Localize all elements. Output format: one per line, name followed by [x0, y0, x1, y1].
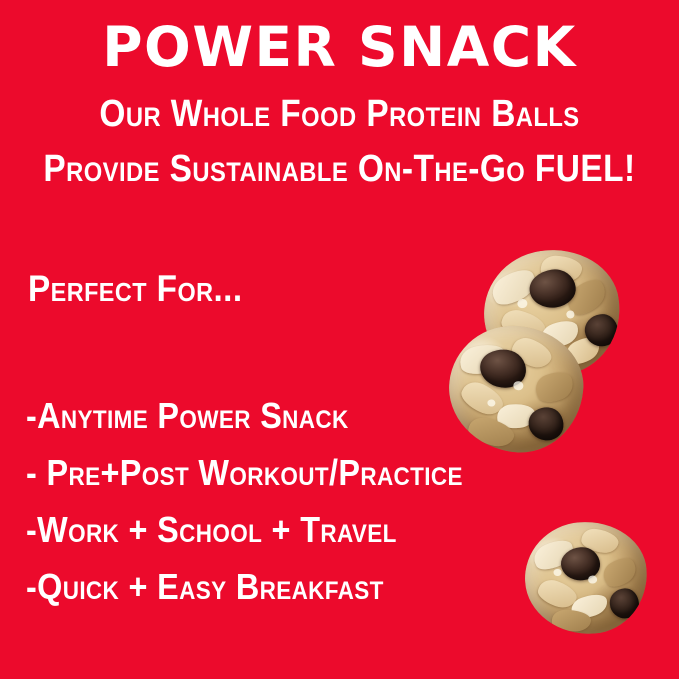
list-item: -Work + School + Travel [26, 512, 449, 548]
protein-ball-single-image [521, 518, 651, 638]
benefits-list: -Anytime Power Snack - Pre+Post Workout/… [26, 398, 496, 626]
poster-canvas: POWER SNACK Our Whole Food Protein Balls… [0, 0, 679, 679]
subheadline-line-2: Provide Sustainable On-The-Go FUEL! [41, 148, 639, 191]
subheadline-line-1: Our Whole Food Protein Balls [41, 93, 639, 136]
list-item: - Pre+Post Workout/Practice [26, 455, 449, 491]
list-item: -Quick + Easy Breakfast [26, 569, 449, 605]
section-label-perfect-for: Perfect For... [28, 268, 243, 310]
page-title: POWER SNACK [0, 20, 679, 75]
list-item: -Anytime Power Snack [26, 398, 449, 434]
